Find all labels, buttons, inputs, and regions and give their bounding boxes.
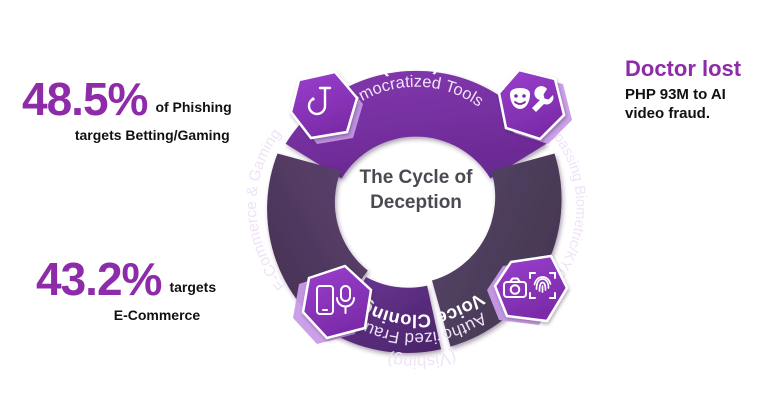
stat-value-phishing: 48.5%	[22, 78, 147, 120]
infographic-canvas: 48.5% of Phishing targets Betting/Gaming…	[0, 0, 771, 407]
callout-line-1: PHP 93M to AI	[625, 85, 741, 104]
stat-row: 43.2% targets	[36, 258, 216, 300]
callout-body: PHP 93M to AI video fraud.	[625, 85, 741, 123]
stat-sub-ecommerce: E-Commerce	[36, 307, 216, 324]
stat-sub-phishing: targets Betting/Gaming	[22, 127, 232, 144]
stat-row: 48.5% of Phishing	[22, 78, 232, 120]
donut-svg: Deepfake-as-a-Service (DaaS) - Democrati…	[243, 20, 589, 392]
callout-doctor-fraud: Doctor lost PHP 93M to AI video fraud.	[625, 56, 741, 123]
cycle-of-deception-donut: Deepfake-as-a-Service (DaaS) - Democrati…	[243, 20, 589, 392]
stat-block-phishing: 48.5% of Phishing targets Betting/Gaming	[22, 78, 232, 144]
stat-lead-phishing: of Phishing	[155, 99, 231, 120]
stat-lead-ecommerce: targets	[169, 279, 216, 300]
callout-line-2: video fraud.	[625, 104, 741, 123]
stat-block-ecommerce: 43.2% targets E-Commerce	[36, 258, 216, 324]
callout-title: Doctor lost	[625, 56, 741, 82]
stat-value-ecommerce: 43.2%	[36, 258, 161, 300]
